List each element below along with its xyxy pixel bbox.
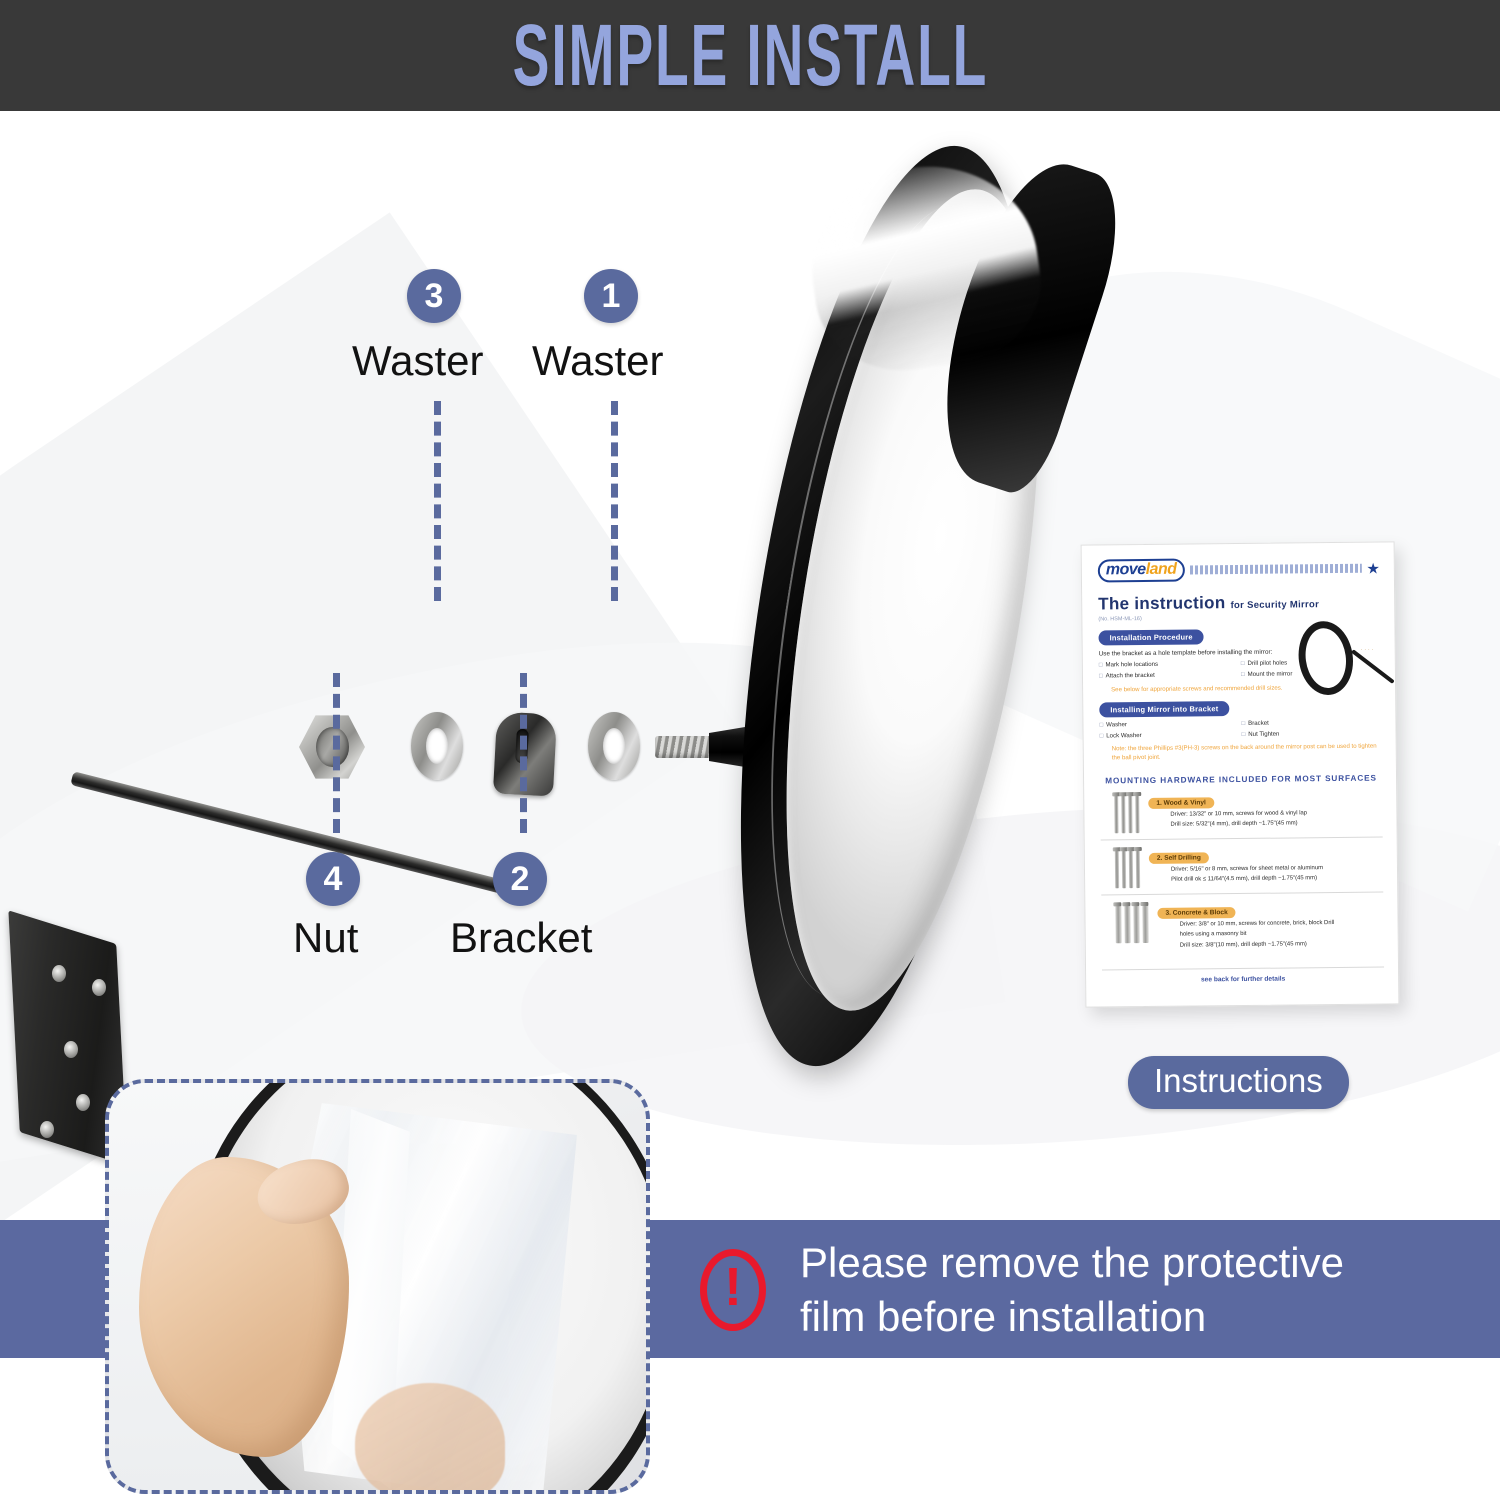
sheet-section2-heading: Installing Mirror into Bracket xyxy=(1099,701,1229,717)
sheet-title-suffix: for Security Mirror xyxy=(1230,600,1319,612)
list-item: Lock Washer xyxy=(1100,730,1232,742)
hardware-body: 1. Wood & Vinyl Driver: 13/32" or 10 mm,… xyxy=(1148,790,1382,831)
leader-line-nut xyxy=(333,673,340,833)
hardware-name: 2. Self Drilling xyxy=(1149,853,1209,865)
screw-icon xyxy=(1136,850,1140,888)
hardware-line: Drill size: 5/32"(4 mm), drill depth ~1.… xyxy=(1170,818,1382,830)
hardware-row: 2. Self Drilling Driver: 5/16" or 8 mm, … xyxy=(1101,837,1384,895)
sheet-brand-row: moveland ★ xyxy=(1098,557,1380,583)
decorative-wave xyxy=(1189,564,1361,575)
callout-badge-4: 4 xyxy=(306,852,360,906)
callout-label-washer-3: Waster xyxy=(352,337,483,385)
hardware-body: 3. Concrete & Block Driver: 3/8" or 10 m… xyxy=(1157,900,1383,950)
anchor-icon xyxy=(1115,906,1121,944)
sheet-section2-note: Note: the three Phillips #3(PH-3) screws… xyxy=(1112,742,1382,763)
callout-number: 4 xyxy=(324,860,343,899)
instruction-sheet: moveland ★ The instruction for Security … xyxy=(1081,541,1400,1007)
callout-label-nut: Nut xyxy=(293,914,358,962)
list-item: Nut Tighten xyxy=(1242,728,1374,740)
screw-group-concrete xyxy=(1115,902,1148,943)
screw-group-wood xyxy=(1114,792,1139,833)
sheet-section2-left-list: Washer Lock Washer xyxy=(1099,719,1231,742)
sheet-section2-columns: Washer Lock Washer Bracket Nut Tighten xyxy=(1099,717,1381,741)
second-hand-photo xyxy=(355,1383,505,1494)
hardware-row: 3. Concrete & Block Driver: 3/8" or 10 m… xyxy=(1101,892,1384,957)
screw-icon xyxy=(1122,851,1126,889)
page-title: SIMPLE INSTALL xyxy=(512,5,988,105)
brand-part-land: land xyxy=(1146,561,1177,578)
product-diagram-stage: 3 Waster 1 Waster 4 Nut 2 Bracket movela… xyxy=(0,111,1500,1500)
bracket-screw-hole xyxy=(76,1094,90,1111)
washer-hole xyxy=(603,728,625,764)
moveland-logo: moveland xyxy=(1098,559,1185,583)
screw-icon xyxy=(1128,796,1132,834)
callout-label-bracket: Bracket xyxy=(450,914,592,962)
brand-part-move: move xyxy=(1106,561,1146,578)
screw-icon xyxy=(1115,851,1119,889)
warning-line-2: film before installation xyxy=(800,1290,1344,1344)
sheet-footer: see back for further details xyxy=(1102,966,1384,984)
bracket-screw-hole xyxy=(52,965,66,982)
hardware-row: 1. Wood & Vinyl Driver: 13/32" or 10 mm,… xyxy=(1100,783,1383,840)
washer-ring xyxy=(588,712,640,780)
sheet-title-row: The instruction for Security Mirror xyxy=(1098,592,1380,615)
list-item: Attach the bracket xyxy=(1099,670,1231,682)
anchor-icon xyxy=(1133,905,1139,943)
star-icon: ★ xyxy=(1366,559,1380,577)
callout-number: 1 xyxy=(602,277,621,316)
hardware-body: 2. Self Drilling Driver: 5/16" or 8 mm, … xyxy=(1149,845,1383,886)
bracket-screw-hole xyxy=(40,1121,54,1138)
hardware-line: Pilot drill ok ≤ 11/64"(4.5 mm), drill d… xyxy=(1171,873,1383,885)
sheet-section1-heading: Installation Procedure xyxy=(1098,630,1203,646)
warning-text: Please remove the protective film before… xyxy=(800,1236,1344,1344)
anchor-icon xyxy=(1142,905,1148,943)
threaded-stud xyxy=(655,736,713,758)
leader-line-bracket xyxy=(520,673,527,833)
callout-number: 3 xyxy=(425,277,444,316)
protective-film-photo xyxy=(105,1079,650,1494)
instructions-label-badge: Instructions xyxy=(1128,1056,1349,1109)
sheet-section1-left-list: Mark hole locations Attach the bracket xyxy=(1099,659,1231,682)
warning-message: ! Please remove the protective film befo… xyxy=(700,1236,1344,1344)
photo-bracket-arm xyxy=(1351,649,1395,684)
hardware-name: 3. Concrete & Block xyxy=(1157,907,1235,919)
callout-badge-2: 2 xyxy=(493,852,547,906)
screw-group-selfdrilling xyxy=(1115,847,1140,888)
callout-badge-1: 1 xyxy=(584,269,638,323)
callout-label-washer-1: Waster xyxy=(532,337,663,385)
convex-security-mirror xyxy=(760,141,1120,1071)
header-banner: SIMPLE INSTALL xyxy=(0,0,1500,111)
screw-icon xyxy=(1129,851,1133,889)
screw-icon xyxy=(1121,796,1125,834)
washer-part-1 xyxy=(588,712,640,780)
bracket-arm xyxy=(70,771,512,895)
bracket-screw-hole xyxy=(92,979,106,996)
anchor-icon xyxy=(1124,906,1130,944)
exclamation-icon: ! xyxy=(700,1249,766,1331)
warning-line-1: Please remove the protective xyxy=(800,1236,1344,1290)
photo-mirror-ring xyxy=(1294,618,1357,698)
screw-icon xyxy=(1135,795,1139,833)
hardware-name: 1. Wood & Vinyl xyxy=(1148,798,1214,810)
callout-badge-3: 3 xyxy=(407,269,461,323)
callout-number: 2 xyxy=(511,860,530,899)
photo-small-parts: ···· xyxy=(1361,647,1376,653)
leader-line-washer-1 xyxy=(611,401,618,601)
screw-icon xyxy=(1114,796,1118,834)
hardware-line: Drill size: 3/8"(10 mm), drill depth ~1.… xyxy=(1180,938,1384,950)
sheet-exploded-photo: ···· xyxy=(1294,616,1387,721)
leader-line-washer-3 xyxy=(434,401,441,601)
sheet-title: The instruction xyxy=(1098,594,1225,614)
bracket-screw-hole xyxy=(64,1041,78,1058)
